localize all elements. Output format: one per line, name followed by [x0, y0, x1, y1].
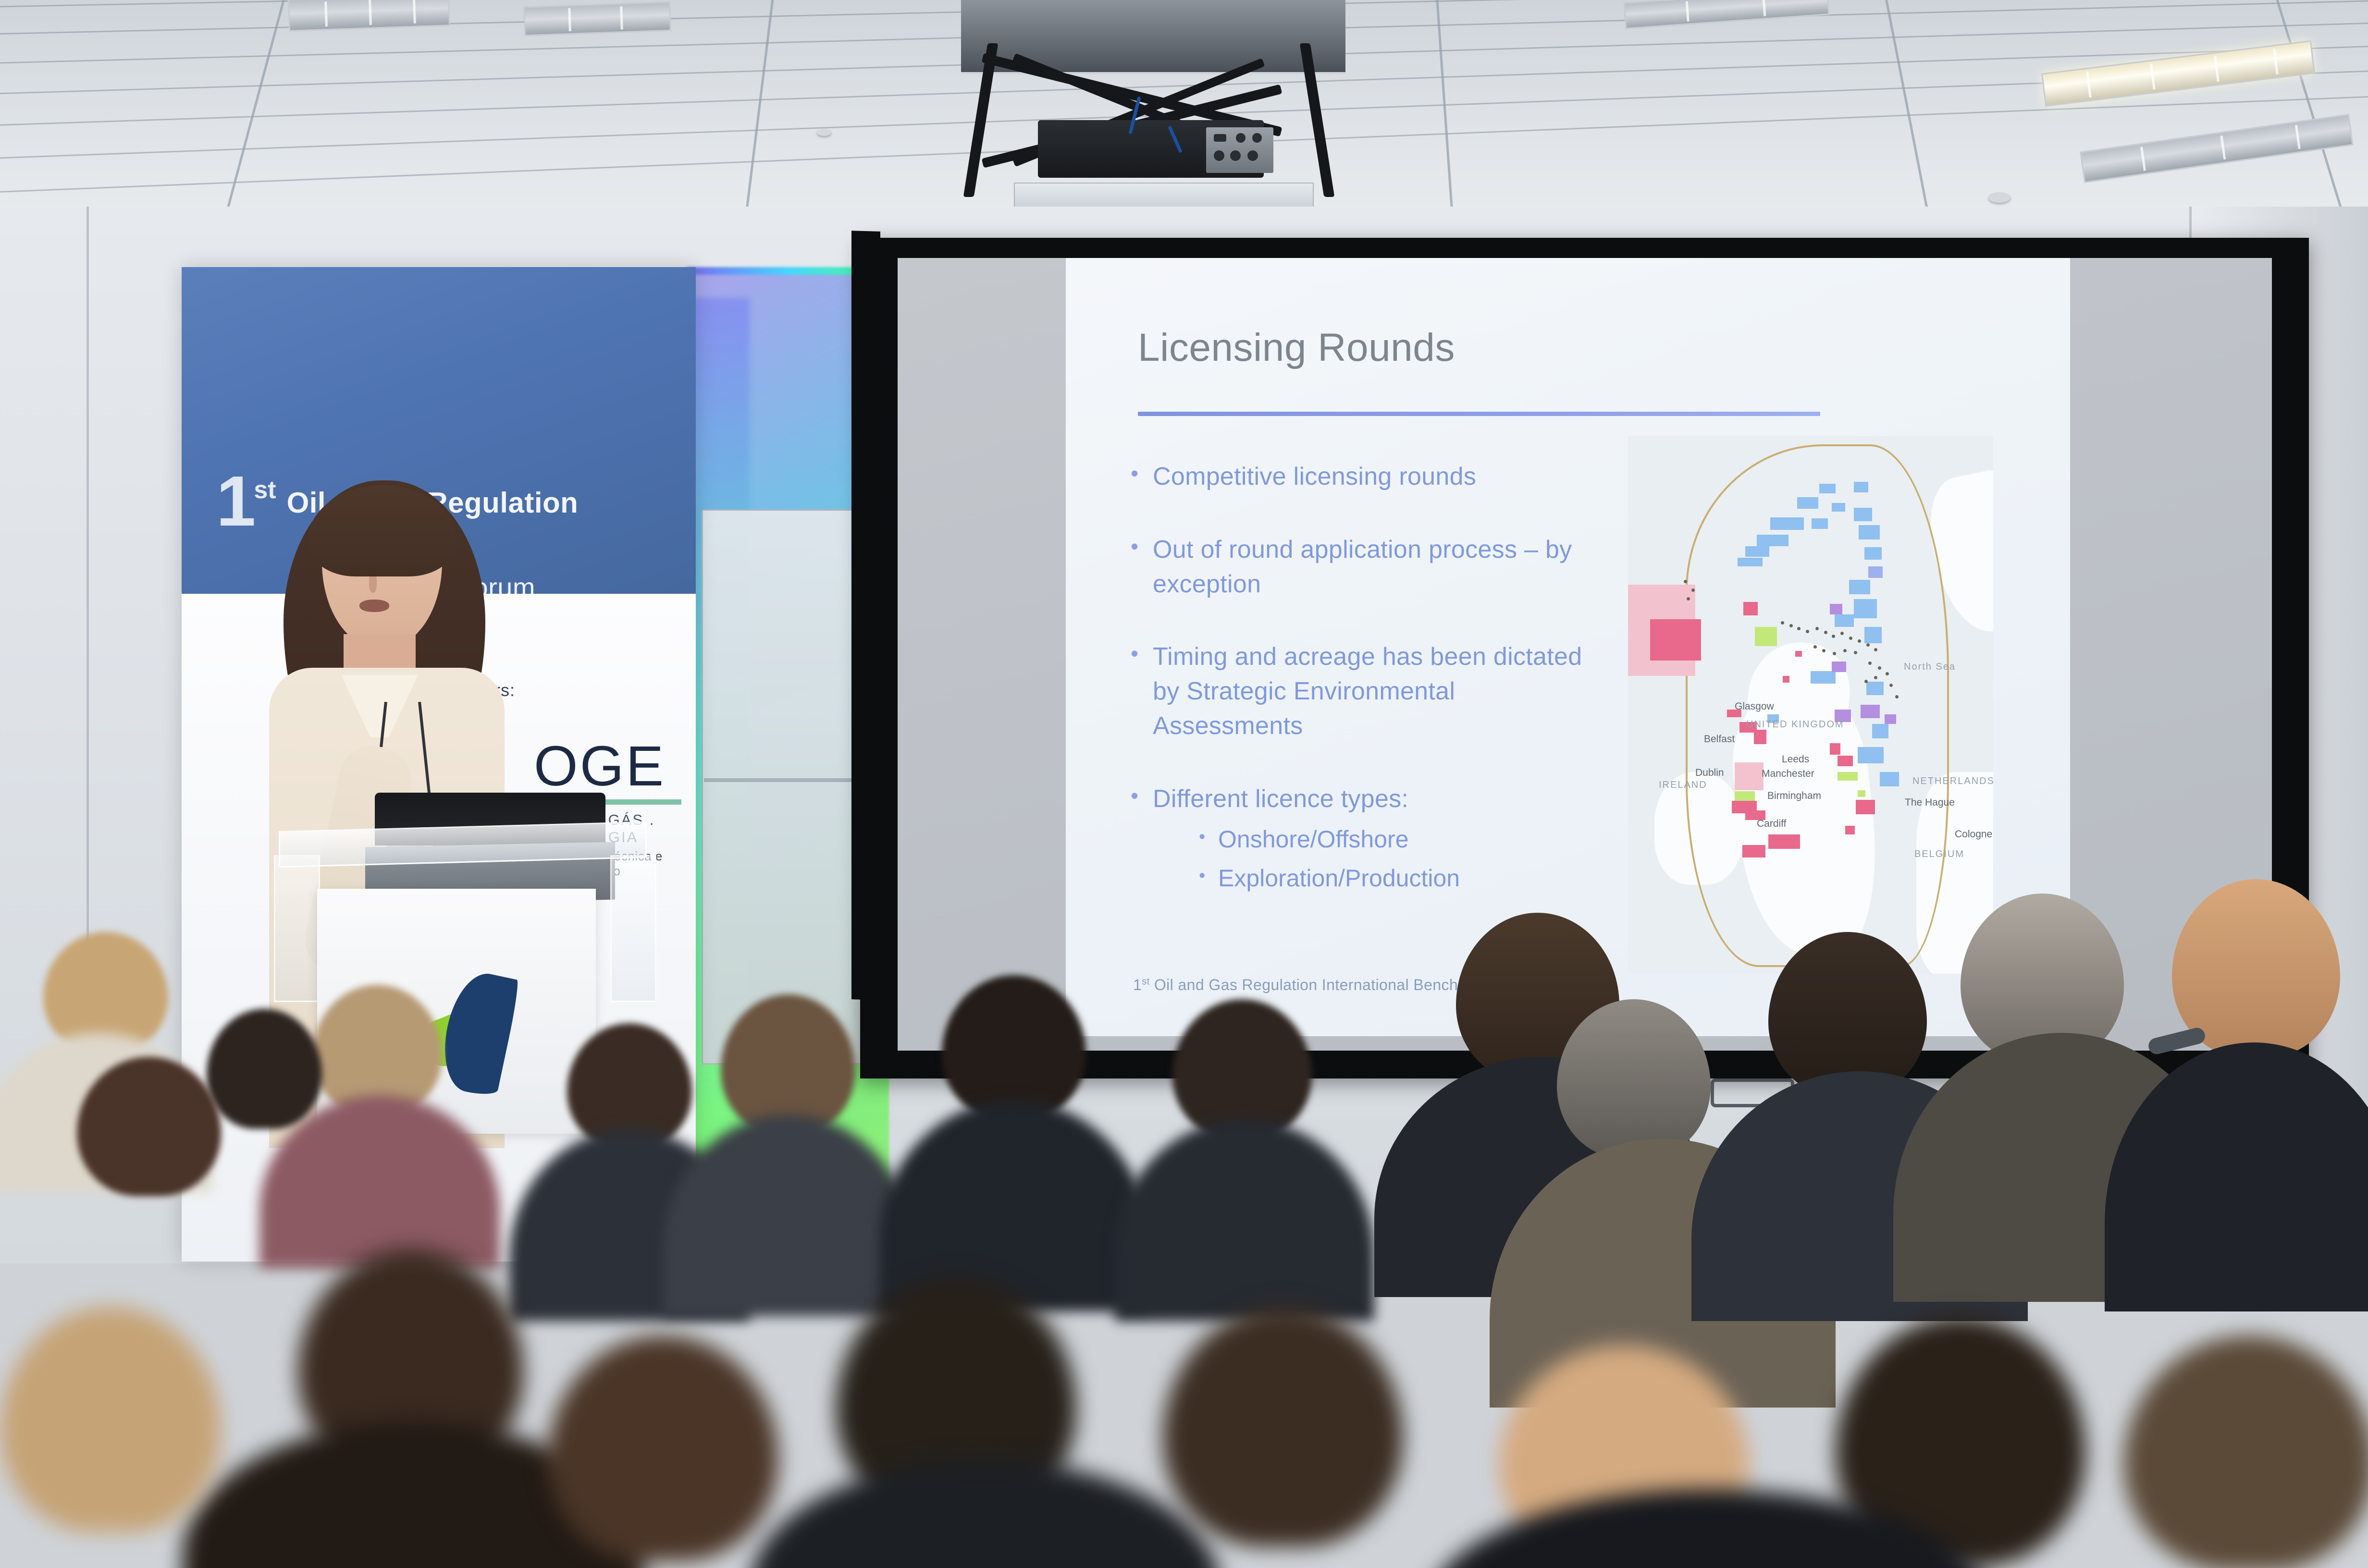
map-licence-block — [1854, 599, 1877, 618]
map-licence-block — [1872, 724, 1888, 738]
map-field-marker — [1849, 637, 1852, 640]
map-licence-block — [1845, 826, 1855, 834]
ceiling-projector-lift — [956, 38, 1350, 197]
projector-ports — [1206, 127, 1273, 173]
map-field-marker — [1889, 684, 1893, 687]
bullet-text: Out of round application process – by ex… — [1153, 533, 1592, 602]
map-licence-block — [1864, 627, 1882, 643]
map-label-birmingham: Birmingham — [1767, 790, 1821, 802]
audience-head — [2124, 1335, 2368, 1568]
map-licence-block — [1742, 845, 1765, 857]
slide-sub-bullet: • Exploration/Production — [1199, 863, 1460, 894]
bullet-dot-icon: • — [1131, 533, 1153, 602]
map-licence-block — [1835, 614, 1854, 627]
bullet-text: Timing and acreage has been dictated by … — [1153, 640, 1592, 743]
map-field-marker — [1866, 643, 1870, 647]
map-label-glasgow: Glasgow — [1735, 701, 1774, 712]
map-licence-block — [1783, 676, 1789, 683]
map-licence-block — [1812, 518, 1828, 529]
map-label-cologne: Cologne — [1955, 829, 1992, 840]
uk-licensing-map: Glasgow Belfast Dublin IRELAND UNITED KI… — [1628, 436, 1993, 974]
map-licence-block — [1885, 714, 1896, 724]
audience-head — [1768, 932, 1927, 1095]
map-licence-block — [1861, 705, 1880, 718]
map-licence-block — [1770, 517, 1804, 530]
map-licence-block — [1849, 580, 1870, 594]
audience-head — [721, 994, 855, 1134]
map-licence-block — [1768, 834, 1800, 849]
map-licence-block — [1743, 602, 1758, 615]
map-label-leeds: Leeds — [1782, 754, 1809, 765]
audience-shoulders — [663, 1115, 913, 1316]
map-label-cardiff: Cardiff — [1757, 818, 1786, 830]
slide-sub-bullet: • Onshore/Offshore — [1199, 824, 1460, 855]
map-label-belgium: BELGIUM — [1914, 849, 1964, 860]
smoke-detector-icon — [1988, 192, 2010, 203]
map-licence-block — [1880, 772, 1899, 786]
map-field-marker — [1895, 695, 1899, 698]
map-field-marker — [1833, 652, 1836, 655]
map-field-marker — [1781, 621, 1784, 625]
map-licence-block — [1738, 558, 1763, 566]
slide-title-rule — [1138, 412, 1820, 416]
map-field-marker — [1858, 639, 1861, 643]
map-licence-block — [1858, 790, 1865, 797]
map-field-marker — [1789, 624, 1793, 627]
map-field-marker — [1687, 597, 1690, 600]
wall-panel-rail — [704, 778, 872, 782]
map-field-marker — [1868, 661, 1872, 665]
map-licence-block — [1864, 547, 1882, 560]
map-licence-block — [1854, 508, 1872, 521]
map-licence-block — [1854, 482, 1868, 492]
map-field-marker — [1878, 666, 1881, 670]
slide-bullet: • Competitive licensing rounds — [1131, 460, 1592, 494]
map-field-marker — [1854, 651, 1857, 654]
conference-room-photo: 1stOil & Gas Regulation International Be… — [0, 0, 2368, 1568]
map-field-marker — [1886, 672, 1889, 675]
map-field-marker — [1684, 580, 1687, 583]
audience-head — [1172, 999, 1312, 1139]
map-licence-block — [1819, 484, 1836, 493]
audience-head — [1163, 1307, 1403, 1547]
bullet-dot-icon: • — [1131, 460, 1153, 494]
map-licence-block — [1838, 756, 1853, 766]
ceiling-light — [2080, 114, 2354, 183]
map-licence-block — [1650, 619, 1701, 661]
slide-bullet: • Out of round application process – by … — [1131, 533, 1592, 602]
ceiling-light — [1624, 0, 1830, 29]
map-licence-block — [1868, 566, 1883, 578]
sub-bullet-text: Onshore/Offshore — [1218, 824, 1409, 855]
map-field-marker — [1843, 649, 1847, 652]
map-licence-block — [1830, 604, 1842, 614]
audience-shoulders — [1115, 1119, 1374, 1321]
audience-head — [548, 1335, 778, 1561]
presenter-mouth — [359, 600, 389, 612]
map-label-manchester: Manchester — [1762, 768, 1814, 780]
map-field-marker — [1864, 680, 1868, 683]
map-label-netherlands: NETHERLANDS — [1912, 776, 1993, 787]
audience-shoulders — [750, 1460, 1221, 1568]
headset-icon — [2147, 1026, 2207, 1056]
map-label-ireland: IRELAND — [1659, 780, 1707, 791]
map-licence-block — [1830, 743, 1840, 755]
map-field-marker — [1797, 627, 1801, 630]
map-label-dublin: Dublin — [1695, 767, 1724, 779]
sub-bullet-text: Exploration/Production — [1218, 863, 1460, 894]
map-field-marker — [1874, 676, 1877, 679]
map-licence-block — [1858, 747, 1884, 763]
map-field-marker — [1874, 648, 1877, 651]
map-label-north-sea: North Sea — [1904, 661, 1956, 673]
audience — [0, 913, 2368, 1568]
map-licence-block — [1754, 730, 1766, 744]
ceiling-light — [523, 1, 671, 37]
ceiling-light — [2041, 40, 2315, 107]
map-field-marker — [1832, 635, 1835, 638]
map-licence-block — [1745, 546, 1769, 557]
oge-wordmark: OGE — [518, 738, 681, 795]
map-field-marker — [1815, 627, 1819, 630]
bullet-text: Different licence types: — [1153, 782, 1460, 817]
audience-head — [942, 975, 1086, 1119]
map-label-belfast: Belfast — [1704, 734, 1735, 745]
bullet-dot-icon: • — [1131, 640, 1153, 743]
map-licence-block — [1735, 762, 1764, 790]
map-label-united-kingdom: UNITED KINGDOM — [1746, 719, 1844, 730]
slide-bullet: • Timing and acreage has been dictated b… — [1131, 640, 1592, 743]
audience-shoulders — [879, 1100, 1148, 1311]
smoke-detector-icon — [817, 129, 831, 136]
map-licence-block — [1832, 503, 1845, 512]
map-licence-block — [1866, 682, 1884, 695]
audience-head — [0, 1307, 221, 1532]
ceiling-light — [288, 0, 450, 32]
slide-bullet-list: • Competitive licensing rounds • Out of … — [1131, 460, 1592, 894]
audience-head — [207, 1009, 322, 1129]
map-licence-block — [1757, 535, 1788, 546]
map-licence-block — [1795, 651, 1802, 657]
slide-title: Licensing Rounds — [1138, 325, 1455, 370]
map-field-marker — [1691, 588, 1695, 592]
map-label-the-hague: The Hague — [1905, 797, 1955, 808]
bullet-dot-icon: • — [1131, 782, 1153, 894]
slide-bullet: • Different licence types: • Onshore/Off… — [1131, 782, 1592, 894]
map-licence-block — [1755, 627, 1777, 646]
sub-bullet-dot-icon: • — [1199, 824, 1218, 855]
map-field-marker — [1813, 645, 1817, 649]
banner-number: 1 — [216, 474, 254, 529]
map-licence-block — [1797, 497, 1818, 509]
map-licence-block — [1856, 800, 1875, 814]
map-licence-block — [1859, 525, 1880, 539]
map-field-marker — [1822, 649, 1825, 652]
map-licence-block — [1811, 671, 1836, 684]
sub-bullet-dot-icon: • — [1199, 863, 1218, 894]
map-licence-block — [1832, 661, 1846, 672]
map-field-marker — [1806, 630, 1809, 633]
map-field-marker — [1824, 631, 1827, 634]
map-field-marker — [1840, 632, 1844, 635]
bullet-text: Competitive licensing rounds — [1153, 460, 1476, 494]
map-licence-block — [1735, 791, 1755, 801]
map-licence-block — [1838, 772, 1858, 781]
